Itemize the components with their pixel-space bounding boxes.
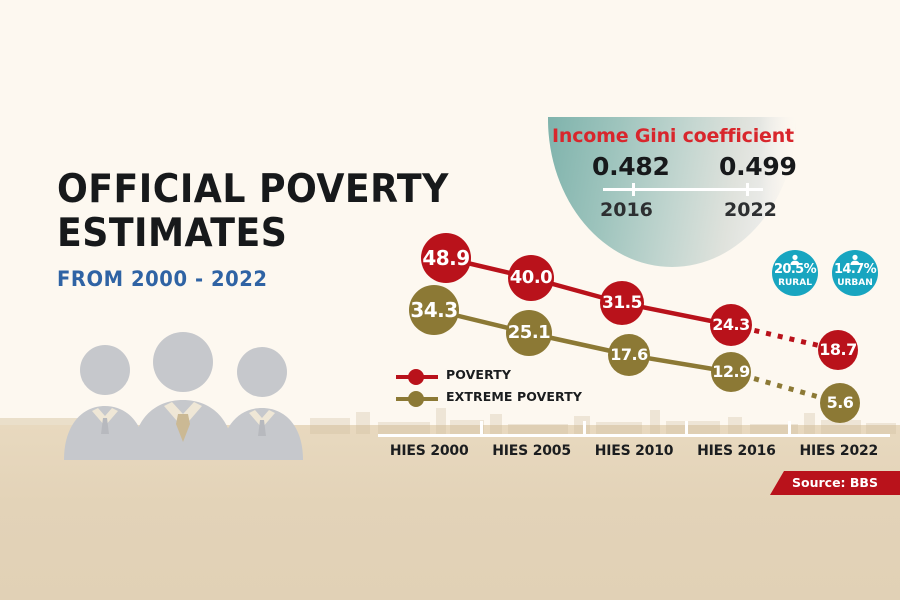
- x-axis-label-hies-2016: HIES 2016: [685, 443, 787, 459]
- x-axis-label-hies-2010: HIES 2010: [583, 443, 685, 459]
- x-axis-line: [378, 434, 890, 437]
- x-axis-label-hies-2005: HIES 2005: [481, 443, 583, 459]
- gini-title: Income Gini coefficient: [548, 125, 798, 147]
- title-line-1: OFFICIAL POVERTY: [57, 168, 364, 212]
- data-point-extreme-poverty-hies-2016: 12.9: [711, 352, 751, 392]
- chart-legend: POVERTY EXTREME POVERTY: [396, 366, 566, 410]
- page-subtitle: FROM 2000 - 2022: [57, 267, 364, 291]
- data-point-poverty-hies-2010: 31.5: [600, 281, 644, 325]
- source-banner: Source: BBS: [770, 471, 900, 495]
- gini-value-2016: 0.482: [592, 152, 670, 181]
- data-point-poverty-hies-2016: 24.3: [710, 304, 752, 346]
- people-silhouette: [50, 330, 320, 460]
- data-point-poverty-hies-2005: 40.0: [508, 255, 554, 301]
- gini-tick-2022: [746, 183, 749, 196]
- legend-label-poverty: POVERTY: [446, 367, 511, 382]
- x-axis-label-hies-2022: HIES 2022: [788, 443, 890, 459]
- title-line-2: ESTIMATES: [57, 212, 364, 256]
- data-point-extreme-poverty-hies-2005: 25.1: [506, 310, 552, 356]
- data-point-poverty-hies-2022: 18.7: [818, 330, 858, 370]
- x-axis-tick-1: [480, 421, 483, 435]
- x-axis-label-hies-2000: HIES 2000: [378, 443, 480, 459]
- legend-label-extreme-poverty: EXTREME POVERTY: [446, 389, 582, 404]
- data-point-poverty-hies-2000: 48.9: [421, 233, 471, 283]
- legend-dot-extreme-poverty: [408, 391, 424, 407]
- legend-item-poverty: POVERTY: [396, 366, 566, 388]
- x-axis-tick-3: [685, 421, 688, 435]
- gini-value-2022: 0.499: [719, 152, 797, 181]
- legend-dot-poverty: [408, 369, 424, 385]
- gini-tick-2016: [632, 183, 635, 196]
- x-axis-tick-4: [788, 421, 791, 435]
- gini-axis-line: [603, 188, 763, 191]
- data-point-extreme-poverty-hies-2010: 17.6: [608, 334, 650, 376]
- legend-item-extreme-poverty: EXTREME POVERTY: [396, 388, 566, 410]
- infographic-canvas: OFFICIAL POVERTY ESTIMATES FROM 2000 - 2…: [0, 0, 900, 600]
- data-point-extreme-poverty-hies-2022: 5.6: [820, 383, 860, 423]
- page-title: OFFICIAL POVERTY ESTIMATES FROM 2000 - 2…: [57, 168, 387, 291]
- x-axis-tick-2: [583, 421, 586, 435]
- data-point-extreme-poverty-hies-2000: 34.3: [409, 285, 459, 335]
